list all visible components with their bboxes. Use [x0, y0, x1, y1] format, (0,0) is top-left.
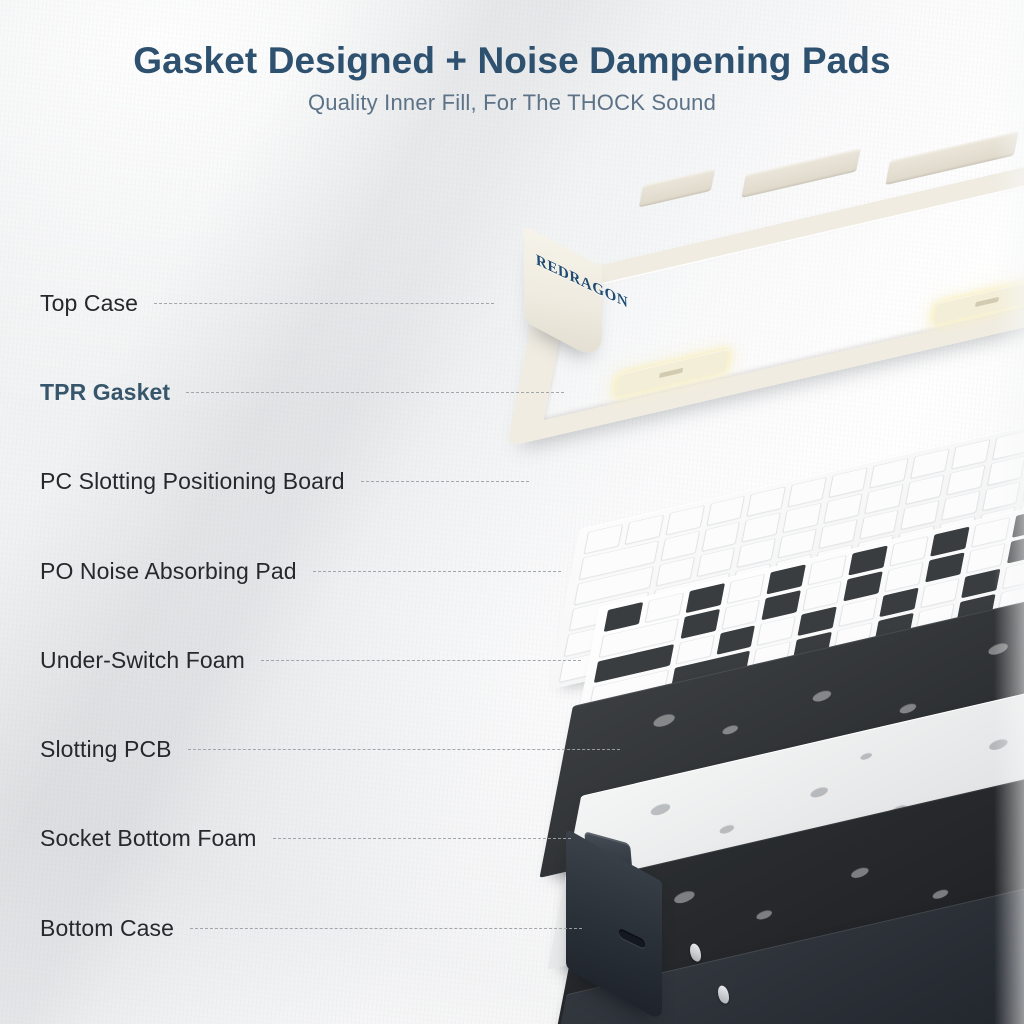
callout-slotting-pcb: Slotting PCB: [40, 732, 620, 766]
leader-line: [190, 928, 582, 929]
leader-line: [313, 571, 561, 572]
leader-line: [361, 481, 529, 482]
callout-label: PC Slotting Positioning Board: [40, 468, 345, 495]
leader-line: [273, 838, 571, 839]
leader-line: [188, 749, 620, 750]
callout-po-noise-absorbing-pad: PO Noise Absorbing Pad: [40, 554, 561, 588]
callout-label: Socket Bottom Foam: [40, 825, 257, 852]
callout-label: TPR Gasket: [40, 379, 170, 406]
page-title: Gasket Designed + Noise Dampening Pads: [0, 40, 1024, 82]
product-exploded-view: Gasket Designed + Noise Dampening Pads Q…: [0, 0, 1024, 1024]
leader-line: [154, 303, 494, 304]
callout-label: Under-Switch Foam: [40, 647, 245, 674]
background-shadow: [0, 0, 1024, 1024]
callout-tpr-gasket: TPR Gasket: [40, 375, 564, 409]
callout-label: Top Case: [40, 290, 138, 317]
leader-line: [186, 392, 564, 393]
callout-bottom-case: Bottom Case: [40, 911, 582, 945]
callout-under-switch-foam: Under-Switch Foam: [40, 643, 581, 677]
callout-pc-slotting-positioning-board: PC Slotting Positioning Board: [40, 464, 529, 498]
callout-top-case: Top Case: [40, 286, 494, 320]
leader-line: [261, 660, 581, 661]
callout-label: PO Noise Absorbing Pad: [40, 558, 297, 585]
page-subtitle: Quality Inner Fill, For The THOCK Sound: [0, 90, 1024, 116]
callout-label: Slotting PCB: [40, 736, 172, 763]
callout-socket-bottom-foam: Socket Bottom Foam: [40, 821, 571, 855]
callout-label: Bottom Case: [40, 915, 174, 942]
